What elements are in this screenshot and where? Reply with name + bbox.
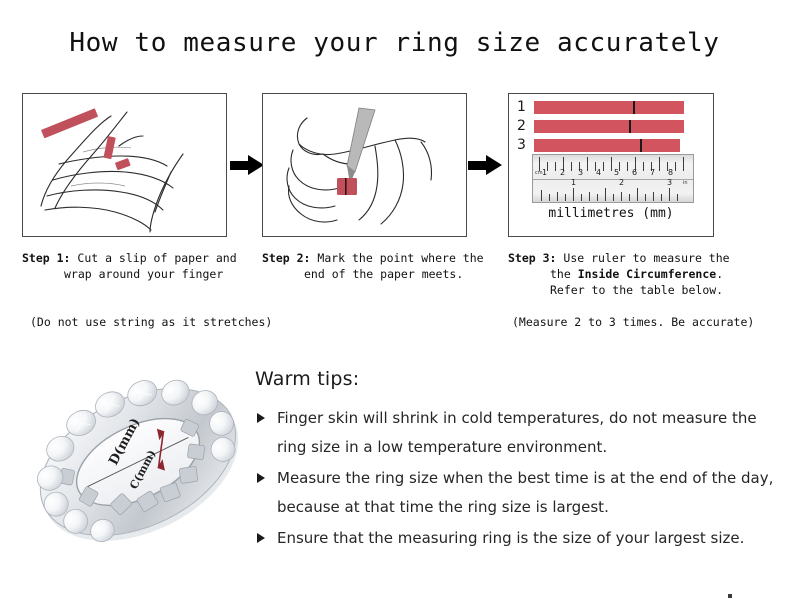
- ruler-cm-tick-label: 7: [650, 169, 655, 177]
- step-1-label: Step 1:: [22, 251, 70, 265]
- ring-diagram: D(mm) C(mm): [24, 358, 252, 573]
- strip-tick-mark: [640, 139, 642, 152]
- ruler-graphic: cm 1 2 3 4 5 6 7 8: [532, 154, 694, 203]
- paper-strip: [534, 101, 684, 114]
- step-3-note: (Measure 2 to 3 times. Be accurate): [512, 315, 754, 329]
- ruler-cm-tick-label: 5: [614, 169, 619, 177]
- step-2-label: Step 2:: [262, 251, 310, 265]
- measured-strip-row: 1: [517, 100, 684, 114]
- step-2-line1: Mark the point where the: [310, 251, 483, 265]
- measured-strip-row: 2: [517, 119, 684, 133]
- ruler-cm-tick-label: 3: [578, 169, 583, 177]
- ruler-inch-unit-label: in: [683, 181, 688, 186]
- arrow-step2-to-step3: [468, 155, 504, 175]
- step-1-line1: Cut a slip of paper and: [70, 251, 236, 265]
- paper-strip: [534, 139, 680, 152]
- step-3-label: Step 3:: [508, 251, 556, 265]
- triangle-bullet-icon: [257, 413, 265, 423]
- ruler-cm-tick-label: 1: [542, 169, 547, 177]
- ruler-caption: millimetres (mm): [509, 206, 713, 221]
- ruler-inch-tick-label: 2: [619, 179, 624, 187]
- strip-number: 2: [517, 119, 531, 133]
- strip-tick-mark: [633, 101, 635, 114]
- warm-tips-list: Finger skin will shrink in cold temperat…: [255, 404, 775, 555]
- tip-item: Finger skin will shrink in cold temperat…: [255, 404, 775, 462]
- step-3-illustration-panel: 1 2 3: [508, 93, 714, 237]
- ruler-cm-tick-label: 2: [560, 169, 565, 177]
- tip-text: Measure the ring size when the best time…: [277, 469, 773, 516]
- step-1-note: (Do not use string as it stretches): [30, 315, 272, 329]
- tip-item: Ensure that the measuring ring is the si…: [255, 524, 775, 553]
- step-2-illustration-panel: [262, 93, 467, 237]
- page-title: How to measure your ring size accurately: [0, 28, 789, 58]
- warm-tips-heading: Warm tips:: [255, 368, 359, 390]
- step-3-line3: Refer to the table below.: [508, 282, 773, 298]
- ruler-cm-tick-label: 8: [668, 169, 673, 177]
- step-3-line2: the Inside Circumference.: [508, 266, 773, 282]
- ruler-cm-tick-label: 4: [596, 169, 601, 177]
- tip-item: Measure the ring size when the best time…: [255, 464, 775, 522]
- inside-circumference-emphasis: Inside Circumference: [578, 267, 716, 281]
- step-1-illustration-panel: [22, 93, 227, 237]
- tip-text: Finger skin will shrink in cold temperat…: [277, 409, 757, 456]
- corner-artifact: [728, 594, 732, 598]
- strip-tick-mark: [629, 120, 631, 133]
- step-2-caption: Step 2: Mark the point where the end of …: [262, 250, 492, 282]
- ring-illustration-svg: D(mm) C(mm): [24, 358, 252, 573]
- ruler-inch-tick-label: 3: [667, 179, 672, 187]
- arrow-step1-to-step2: [230, 155, 266, 175]
- ruler-inch-scale: 1 2 3 in: [533, 179, 693, 202]
- step-3-caption: Step 3: Use ruler to measure the the Ins…: [508, 250, 773, 298]
- step-1-line2: wrap around your finger: [22, 266, 252, 282]
- ruler-cm-tick-label: 6: [632, 169, 637, 177]
- hand-paper-strip-drawing: [23, 94, 226, 236]
- measured-strip-row: 3: [517, 138, 680, 152]
- step-2-line2: end of the paper meets.: [262, 266, 492, 282]
- tip-text: Ensure that the measuring ring is the si…: [277, 529, 744, 547]
- step-3-line2-prefix: the: [550, 267, 578, 281]
- ruler-cm-scale: cm 1 2 3 4 5 6 7 8: [533, 155, 693, 180]
- hand-marking-drawing: [263, 94, 466, 236]
- ruler-inch-tick-label: 1: [571, 179, 576, 187]
- step-3-line2-tail: .: [716, 267, 723, 281]
- triangle-bullet-icon: [257, 473, 265, 483]
- step-3-line1: Use ruler to measure the: [556, 251, 729, 265]
- triangle-bullet-icon: [257, 533, 265, 543]
- paper-strip: [534, 120, 684, 133]
- step-1-caption: Step 1: Cut a slip of paper and wrap aro…: [22, 250, 252, 282]
- strip-number: 3: [517, 138, 531, 152]
- strip-number: 1: [517, 100, 531, 114]
